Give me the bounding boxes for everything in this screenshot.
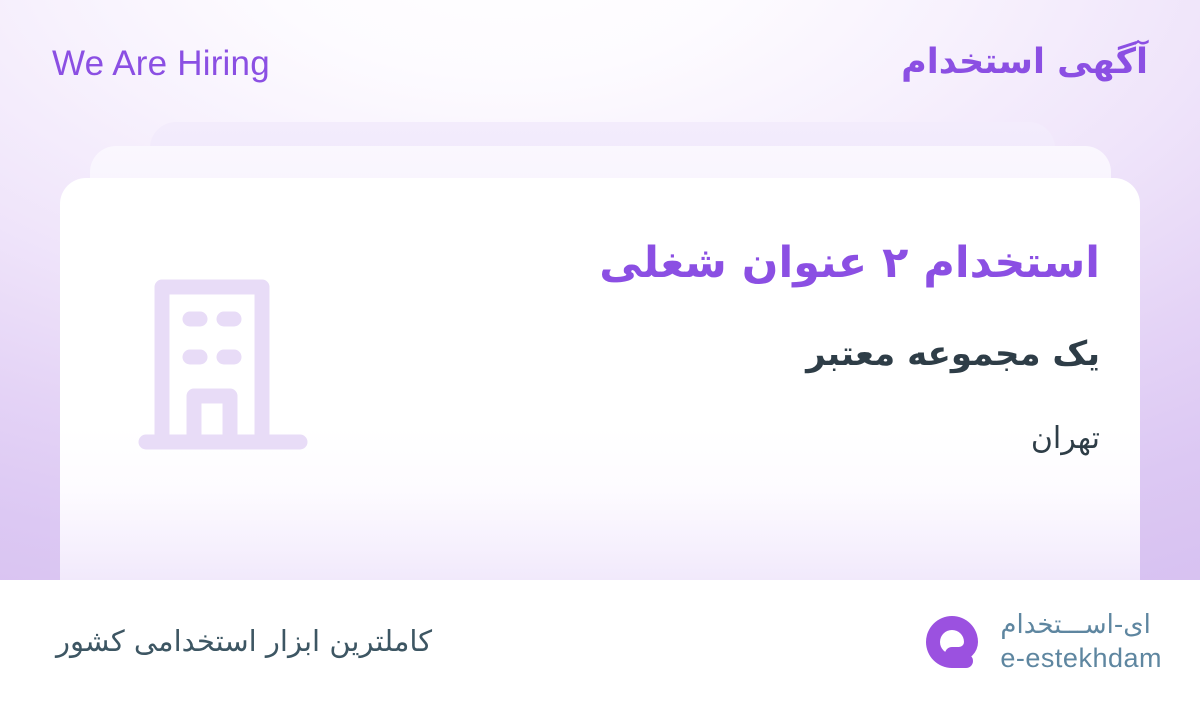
job-location: تهران (400, 416, 1100, 462)
brand-wordmark: ای-اســـتخدام e-estekhdam (1000, 609, 1162, 675)
job-card-content: استخدام ۲ عنوان شغلی یک مجموعه معتبر تهر… (400, 232, 1100, 462)
hiring-headline-fa: آگهی استخدام (901, 38, 1148, 86)
hero-header: We Are Hiring آگهی استخدام (0, 0, 1200, 120)
footer-tagline: کاملترین ابزار استخدامی کشور (56, 617, 432, 665)
hiring-headline-en: We Are Hiring (52, 42, 270, 86)
brand-logo[interactable]: ای-اســـتخدام e-estekhdam (920, 604, 1162, 680)
company-name: یک مجموعه معتبر (400, 328, 1100, 380)
brand-name-fa: ای-اســـتخدام (1000, 609, 1150, 641)
e-estekhdam-logo-icon (920, 610, 984, 674)
job-title: استخدام ۲ عنوان شغلی (400, 232, 1100, 294)
brand-name-en: e-estekhdam (1000, 641, 1162, 675)
building-icon (138, 272, 308, 452)
footer-bar: کاملترین ابزار استخدامی کشور ای-اســـتخد… (0, 580, 1200, 705)
hero-background: We Are Hiring آگهی استخدام (0, 0, 1200, 580)
job-ad-page: We Are Hiring آگهی استخدام (0, 0, 1200, 705)
